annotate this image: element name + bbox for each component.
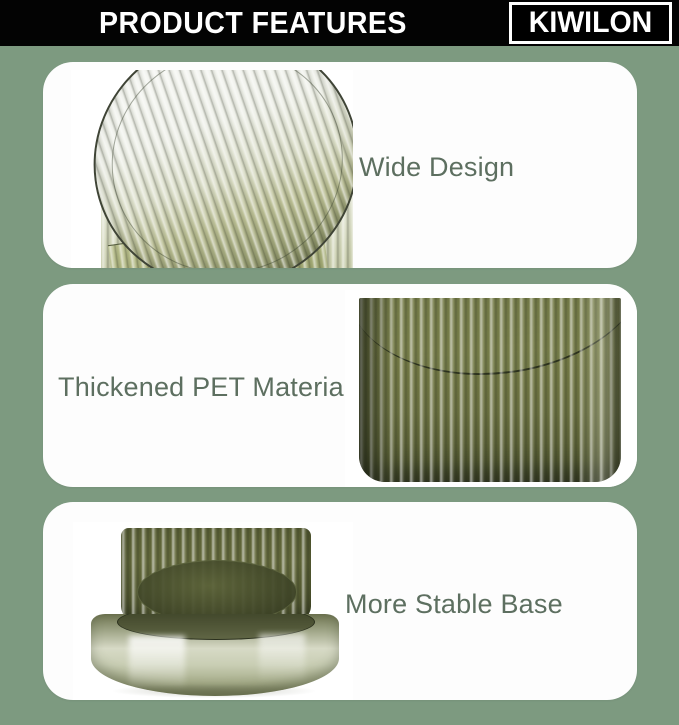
vase-body-photo xyxy=(345,290,637,487)
vase-rim-inner-line xyxy=(81,70,353,268)
feature-card-thickened-pet-material: Thickened PET Material xyxy=(43,284,637,487)
page-title: PRODUCT FEATURES xyxy=(99,4,407,42)
vase-rim-illustration xyxy=(93,70,353,268)
pedestal-highlight-right xyxy=(259,634,305,684)
header-bar: PRODUCT FEATURES KIWILON xyxy=(0,0,679,46)
base-contact-shadow xyxy=(113,684,315,698)
vase-body-illustration xyxy=(359,298,621,482)
vase-left-edge-shadow xyxy=(359,298,393,482)
brand-logo: KIWILON xyxy=(509,2,672,44)
vase-rim-photo xyxy=(71,70,353,268)
feature-card-wide-design: Wide Design xyxy=(43,62,637,268)
product-features-infographic: PRODUCT FEATURES KIWILON Wide Design xyxy=(0,0,679,725)
brand-logo-text: KIWILON xyxy=(516,5,665,41)
feature-card-more-stable-base: More Stable Base xyxy=(43,502,637,700)
vase-right-edge-highlight xyxy=(579,298,621,482)
feature-label-thickened-pet-material: Thickened PET Material xyxy=(58,372,350,403)
feature-label-more-stable-base: More Stable Base xyxy=(345,589,563,620)
vase-base-photo xyxy=(73,522,353,700)
feature-label-wide-design: Wide Design xyxy=(359,152,514,183)
pedestal-highlight-left xyxy=(129,636,185,690)
